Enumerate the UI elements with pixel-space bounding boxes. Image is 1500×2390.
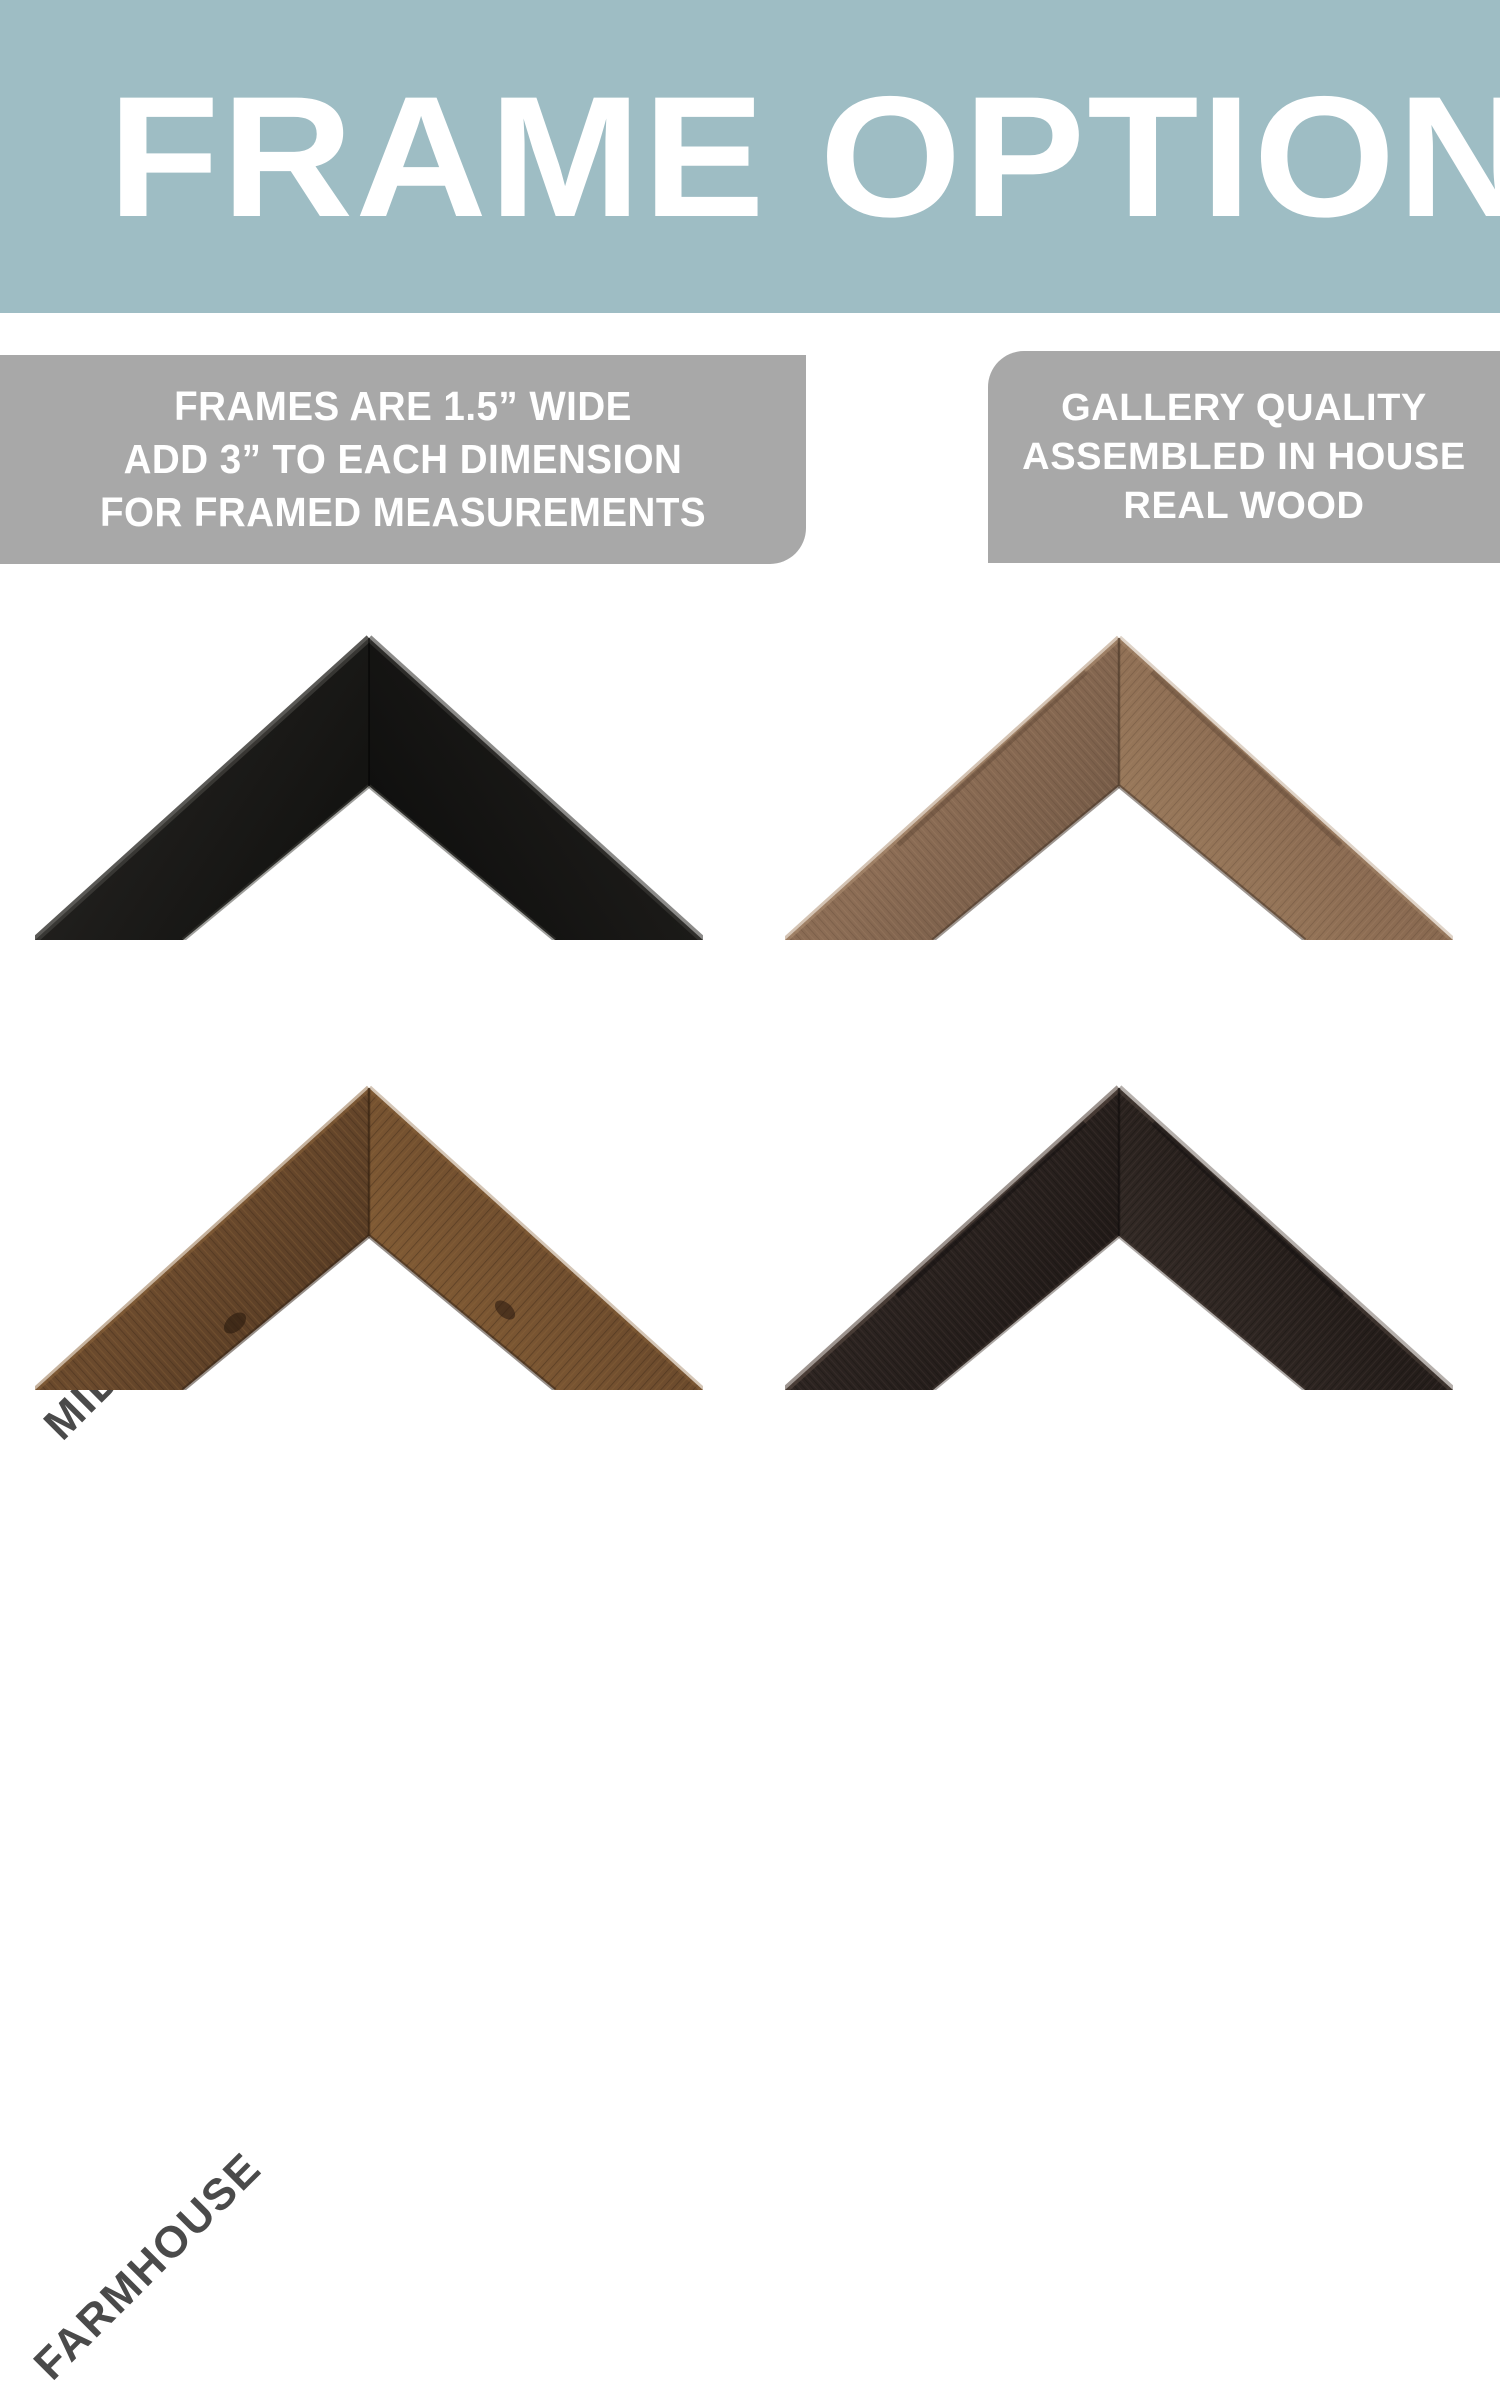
frame-corner-chevron-midnight	[35, 630, 703, 940]
sizing-info-line-2: ADD 3” TO EACH DIMENSION	[24, 433, 782, 486]
frame-label-farmhouse: FARMHOUSE	[25, 2143, 272, 2390]
quality-info-line-1: GALLERY QUALITY	[988, 384, 1500, 433]
frame-chevron-svg	[35, 1080, 703, 1390]
frame-swatch-midnight[interactable]: MIDNIGHT	[0, 590, 750, 1040]
header-band: FRAME OPTIONS	[0, 0, 1500, 313]
frame-chevron-svg	[35, 630, 703, 940]
frame-chevron-svg	[785, 1080, 1453, 1390]
page-title: FRAME OPTIONS	[108, 68, 1475, 246]
frame-swatch-driftwood[interactable]: DRIFTWOOD	[750, 590, 1500, 1040]
quality-info-box: GALLERY QUALITY ASSEMBLED IN HOUSE REAL …	[988, 351, 1500, 563]
quality-info-lines: GALLERY QUALITY ASSEMBLED IN HOUSE REAL …	[988, 384, 1500, 531]
frame-corner-chevron-charcoal	[785, 1080, 1453, 1390]
quality-info-line-3: REAL WOOD	[988, 482, 1500, 531]
sizing-info-box: FRAMES ARE 1.5” WIDE ADD 3” TO EACH DIME…	[0, 355, 806, 564]
frame-swatch-farmhouse[interactable]: FARMHOUSE	[0, 1040, 750, 1490]
sizing-info-lines: FRAMES ARE 1.5” WIDE ADD 3” TO EACH DIME…	[0, 380, 806, 539]
quality-info-line-2: ASSEMBLED IN HOUSE	[988, 433, 1500, 482]
sizing-info-line-3: FOR FRAMED MEASUREMENTS	[24, 486, 782, 539]
frame-swatch-charcoal[interactable]: CHARCOAL	[750, 1040, 1500, 1490]
sizing-info-line-1: FRAMES ARE 1.5” WIDE	[24, 380, 782, 433]
frame-chevron-svg	[785, 630, 1453, 940]
frame-corner-chevron-driftwood	[785, 630, 1453, 940]
frame-corner-chevron-farmhouse	[35, 1080, 703, 1390]
